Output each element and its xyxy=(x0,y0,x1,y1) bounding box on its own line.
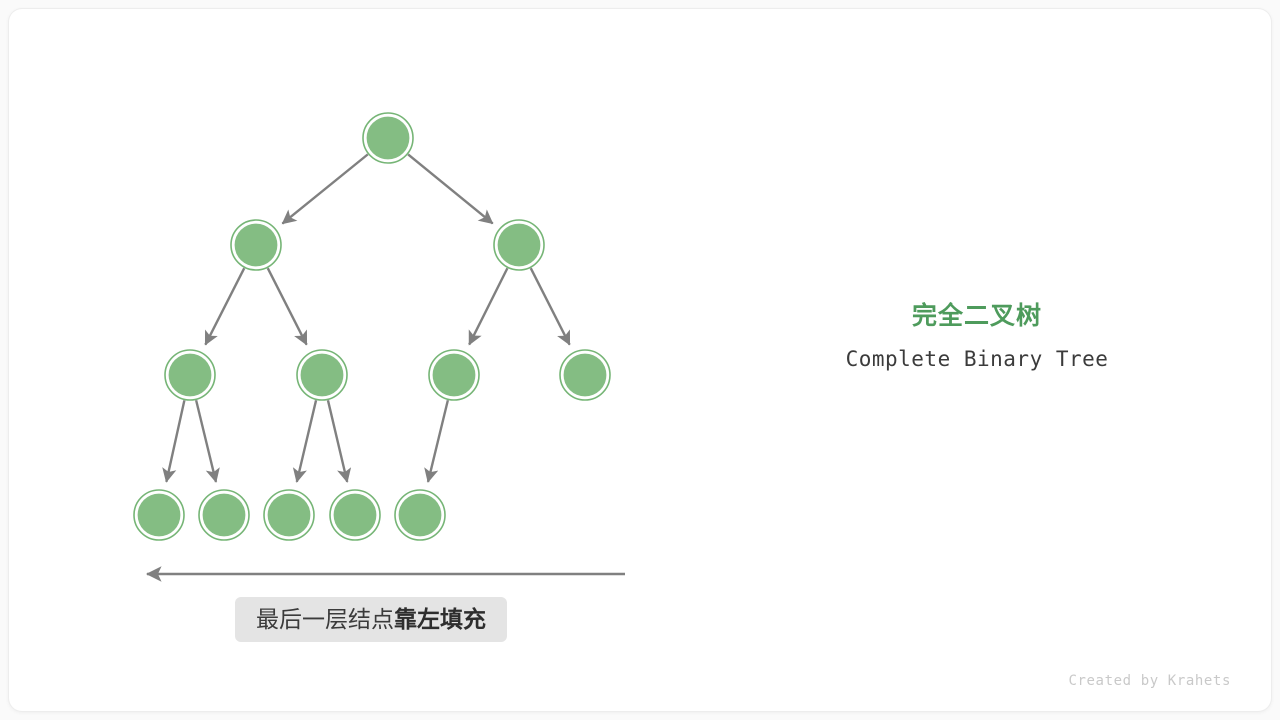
tree-node xyxy=(429,350,479,400)
tree-node xyxy=(297,350,347,400)
tree-node xyxy=(395,490,445,540)
tree-node xyxy=(199,490,249,540)
diagram-card: 完全二叉树 Complete Binary Tree 最后一层结点 靠左填充 C… xyxy=(9,9,1271,711)
tree-node-fill xyxy=(498,224,541,267)
tree-edge xyxy=(166,400,184,481)
page-subtitle: Complete Binary Tree xyxy=(727,347,1227,371)
tree-node-fill xyxy=(203,494,246,537)
tree-node-fill xyxy=(138,494,181,537)
tree-node-fill xyxy=(235,224,278,267)
tree-nodes xyxy=(134,113,610,540)
tree-node xyxy=(363,113,413,163)
tree-node-fill xyxy=(334,494,377,537)
tree-edge xyxy=(328,400,347,482)
tree-edge xyxy=(205,268,244,344)
tree-edge xyxy=(469,268,507,344)
tree-node-fill xyxy=(564,354,607,397)
tree-edges xyxy=(166,154,569,482)
caption-block: 完全二叉树 Complete Binary Tree xyxy=(727,301,1227,371)
tree-node-fill xyxy=(367,117,410,160)
tree-node-fill xyxy=(399,494,442,537)
tree-node xyxy=(134,490,184,540)
annotation-text-plain: 最后一层结点 xyxy=(256,608,394,631)
tree-node xyxy=(330,490,380,540)
tree-edge xyxy=(196,400,216,482)
annotation-text-bold: 靠左填充 xyxy=(394,608,486,631)
tree-edge xyxy=(268,268,307,344)
tree-edge xyxy=(531,268,570,344)
tree-edge xyxy=(408,154,493,223)
tree-node xyxy=(165,350,215,400)
tree-node xyxy=(231,220,281,270)
annotation-badge: 最后一层结点 靠左填充 xyxy=(235,597,507,642)
credit-text: Created by Krahets xyxy=(1068,673,1231,689)
tree-edge xyxy=(282,154,367,223)
tree-node-fill xyxy=(169,354,212,397)
tree-edge xyxy=(297,400,316,482)
screenshot-root: 完全二叉树 Complete Binary Tree 最后一层结点 靠左填充 C… xyxy=(0,0,1280,720)
tree-edge xyxy=(428,400,448,482)
tree-node-fill xyxy=(301,354,344,397)
tree-node-fill xyxy=(268,494,311,537)
tree-node xyxy=(264,490,314,540)
page-title: 完全二叉树 xyxy=(727,301,1227,331)
tree-node-fill xyxy=(433,354,476,397)
tree-node xyxy=(494,220,544,270)
tree-node xyxy=(560,350,610,400)
